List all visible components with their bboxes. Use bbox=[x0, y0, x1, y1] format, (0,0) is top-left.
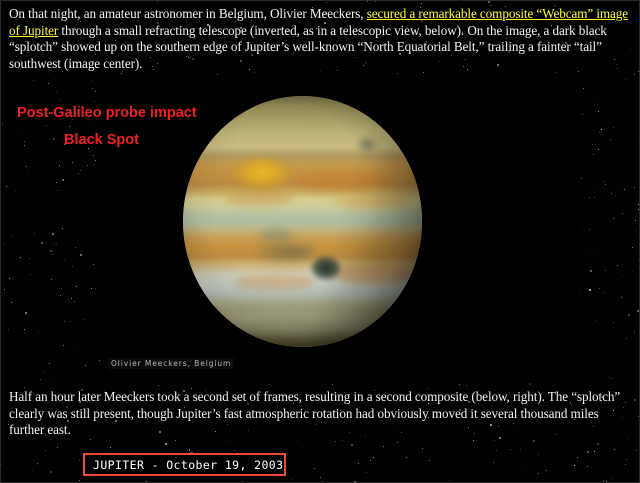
jupiter-photo: Olivier Meeckers, Belgium bbox=[101, 75, 579, 382]
annotation-black-spot-label: Black Spot bbox=[64, 132, 139, 148]
intro-paragraph: On that night, an amateur astronomer in … bbox=[9, 6, 635, 72]
followup-paragraph: Half an hour later Meeckers took a secon… bbox=[9, 389, 635, 439]
annotation-impact-label: Post-Galileo probe impact bbox=[17, 105, 197, 121]
page-root: On that night, an amateur astronomer in … bbox=[0, 0, 640, 483]
intro-text-after-link: through a small refracting telescope (in… bbox=[9, 23, 607, 71]
caption-text: JUPITER - October 19, 2003 bbox=[85, 458, 283, 472]
limb-shading bbox=[183, 96, 422, 347]
photo-credit: Olivier Meeckers, Belgium bbox=[108, 358, 234, 369]
intro-text-before-link: On that night, an amateur astronomer in … bbox=[9, 6, 367, 21]
jupiter-disk bbox=[183, 96, 422, 347]
caption-box: JUPITER - October 19, 2003 bbox=[83, 453, 286, 476]
